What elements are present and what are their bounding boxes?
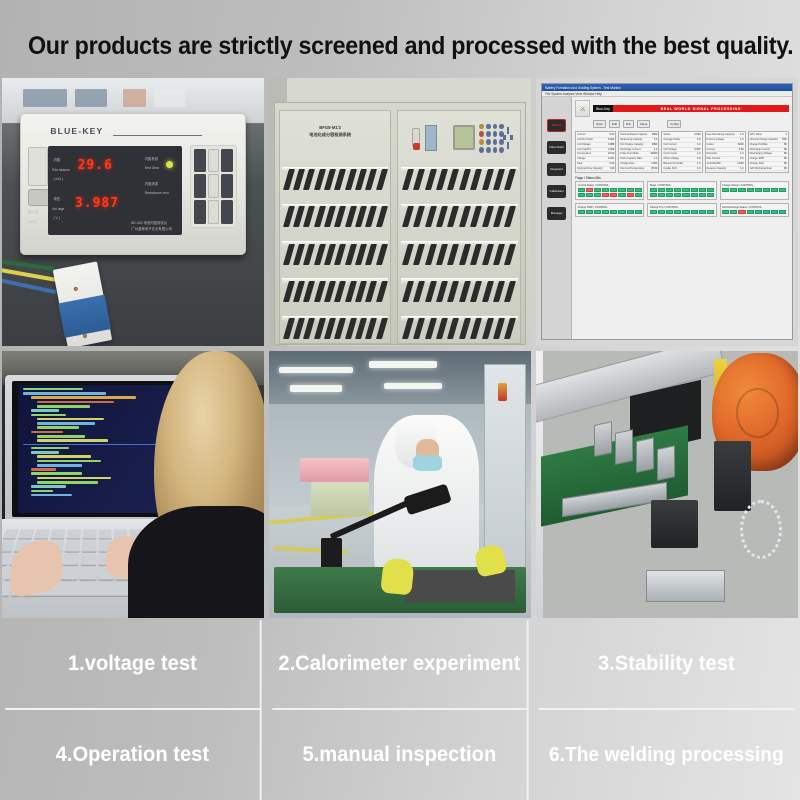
key[interactable] [82,529,96,538]
battery-clip [436,281,448,302]
background-object [23,89,68,108]
worker-face-mask [413,455,442,471]
key[interactable] [2,529,19,538]
voltage-unit: ( V ) [53,216,59,221]
flag-bit[interactable] [586,193,593,197]
window-titlebar: Battery Formation And Grading System - T… [542,84,792,91]
param-name: Usable SOC [663,167,677,171]
meter-brand-label: BLUE-KEY [50,126,103,136]
battery-clip [425,206,437,227]
keypad-key[interactable] [194,149,206,173]
flag-bit[interactable] [699,210,706,214]
battery-clip [482,244,494,265]
flag-bit[interactable] [779,188,786,192]
flag-bit[interactable] [755,188,762,192]
code-line [31,409,60,412]
battery-clip [334,169,346,190]
flag-bit[interactable] [771,210,778,214]
toolbar-button-open[interactable]: Open [593,120,606,128]
table-row: Usable SOC1.0 [663,167,700,172]
param-value: 4.00 [739,148,744,152]
battery-clip [459,169,471,190]
param-value: 2800 [652,143,658,147]
flag-bit[interactable] [602,210,609,214]
panel-button[interactable] [479,124,484,130]
key[interactable] [79,567,95,579]
fixture-block [615,429,633,465]
param-value: 24.00 [608,152,614,156]
window-body: Battery Data Flash Registers Calibration… [542,97,792,339]
sidebar-item-manager[interactable]: Manager [547,207,566,220]
keypad-key[interactable] [194,200,206,224]
flag-bit[interactable] [779,210,786,214]
cabinet-control-panel[interactable] [403,121,515,158]
software-header: ⚔ Blue-Key REAL WORLD SIGNAL PROCESSING [575,100,789,117]
panel-button[interactable] [486,147,491,153]
panel-button[interactable] [493,131,498,137]
key[interactable] [61,567,78,579]
battery-protection-board [52,262,111,346]
dpad-left-icon[interactable] [503,135,506,140]
param-value: 80 [784,152,787,156]
flag-bit[interactable] [610,210,617,214]
param-name: Present Voltage [707,138,725,142]
flag-bit[interactable] [682,193,689,197]
sidebar-item-battery[interactable]: Battery [547,119,566,132]
flag-bit[interactable] [738,210,745,214]
flag-bit[interactable] [650,193,657,197]
param-value: 1.0 [740,138,743,142]
cabinet-dpad[interactable] [503,127,513,149]
param-name: Current [577,133,585,137]
photo-stability-test: Battery Formation And Grading System - T… [536,78,798,346]
param-value: 0.0 [697,157,700,161]
param-value: 2.000 [608,148,614,152]
flag-bit[interactable] [682,188,689,192]
caption-5: 5.manual inspection [272,710,528,800]
flag-bit[interactable] [730,210,737,214]
param-value: 2800 [652,133,658,137]
key[interactable] [50,529,65,538]
flag-bit[interactable] [578,193,585,197]
flag-bit[interactable] [650,188,657,192]
param-name: Reserve Capacity [707,167,727,171]
flag-bit[interactable] [674,188,681,192]
flag-bit[interactable] [586,188,593,192]
battery-clip [447,169,459,190]
keypad-key[interactable] [221,149,233,173]
param-value: 1.0 [740,152,743,156]
ceiling-light [279,367,352,374]
battery-clip [504,206,516,227]
flag-bit[interactable] [747,188,754,192]
panel-button[interactable] [479,131,484,137]
panel-button[interactable] [493,124,498,130]
flag-bit[interactable] [594,210,601,214]
sidebar-item-label: Data Flash [549,146,564,149]
panel-meter-strip [425,125,437,151]
param-name: Nominals [707,152,717,156]
input-label-en: INPUT [28,220,38,225]
sidebar-item-label: Battery [552,124,562,127]
cabinet-door-left[interactable]: BFG8-M1'2 电池化成分容检测系统 [279,110,391,344]
panel-button[interactable] [486,124,491,130]
flag-bit[interactable] [674,193,681,197]
param-value: 4.000 [608,138,614,142]
flag-bit[interactable] [578,188,585,192]
battery-clip [493,206,505,227]
flag-bit[interactable] [747,210,754,214]
code-line [37,464,82,467]
sidebar-item-calibration[interactable]: Calibration [547,185,566,198]
battery-clip [402,244,414,265]
battery-clip [376,244,388,265]
battery-clip [376,206,388,227]
code-line [37,481,98,484]
flag-bit[interactable] [666,188,673,192]
flag-bit[interactable] [602,193,609,197]
flag-bit[interactable] [674,210,681,214]
flag-groups-grid: Control Status / CONTROL Flags / CONTROL [575,181,789,217]
param-name: Average Power [663,138,680,142]
key[interactable] [63,553,79,564]
keypad-key-right[interactable] [221,174,233,198]
battery-clip [334,244,346,265]
toolbar-button-run[interactable]: Run [623,120,634,128]
resistance-label-cn: 内阻 [53,158,60,163]
battery-clip [436,169,448,190]
flag-bit[interactable] [658,210,665,214]
battery-clip [470,169,482,190]
header-tagline: Blue-Key REAL WORLD SIGNAL PROCESSING [593,105,789,112]
code-line [31,494,73,497]
flag-bit[interactable] [627,193,634,197]
cabinet-clip-row [402,318,516,339]
test-software-window: Battery Formation And Grading System - T… [541,83,793,340]
flag-bit-row [578,193,642,197]
caption-6: 6.The welding processing [539,710,795,800]
battery-clip [413,244,425,265]
panel-button[interactable] [479,139,484,145]
cabinet-door-right[interactable] [397,110,521,344]
param-name: Discharge Current [620,148,640,152]
code-line [37,401,114,404]
flag-bit[interactable] [635,210,642,214]
flag-bit[interactable] [627,188,634,192]
param-value: 80 [784,167,787,171]
battery-clip [493,244,505,265]
param-value: 1.0 [697,162,700,166]
panel-button[interactable] [486,131,491,137]
cabinet-model-label: BFG8-M1'2 电池化成分容检测系统 [300,125,361,138]
key[interactable] [2,541,15,551]
keypad-key-down[interactable] [208,200,220,224]
param-value: 3.988 [608,143,614,147]
battery-clip [504,169,516,190]
flag-bit[interactable] [666,193,673,197]
caption-3: 3.Stability test [539,620,795,710]
battery-clip [425,169,437,190]
code-line [37,455,92,458]
ceiling-light [290,385,342,392]
panel-button[interactable] [486,139,491,145]
flags-section-title: Flags / Status Bits [575,176,789,180]
battery-clip [493,318,505,339]
battery-clip [447,318,459,339]
battery-clip [283,169,295,190]
battery-clip [402,318,414,339]
code-line [31,490,53,493]
battery-clip [283,281,295,302]
key[interactable] [81,541,96,551]
battery-clip [413,169,425,190]
flag-bit[interactable] [691,193,698,197]
cabinet-button-grid[interactable] [479,124,504,154]
key[interactable] [66,529,81,538]
battery-clip [365,206,377,227]
param-name: SOC Value [750,133,762,137]
flag-bit-row [578,210,642,214]
code-line [37,460,101,463]
param-value: 40000 [650,152,657,156]
battery-clip [283,318,295,339]
flag-bit[interactable] [610,193,617,197]
flag-bit[interactable] [586,210,593,214]
panel-button[interactable] [493,147,498,153]
flag-bit[interactable] [635,188,642,192]
code-line [31,468,57,471]
param-name: Nominal Temperature [620,167,644,171]
flag-bit[interactable] [658,193,665,197]
toolbar-button-setup[interactable]: Setup [637,120,650,128]
background-object [154,89,185,108]
flag-bit[interactable] [691,188,698,192]
flag-bit-row [650,193,714,197]
flag-bit[interactable] [691,210,698,214]
header-banner: REAL WORLD SIGNAL PROCESSING [613,105,789,112]
param-value: 1.0 [740,167,743,171]
param-value: 4.002 [694,148,700,152]
flag-bit[interactable] [763,188,770,192]
flag-bit[interactable] [666,210,673,214]
page-title: Our products are strictly screened and p… [28,24,772,68]
flag-bit[interactable] [627,210,634,214]
resistance-label-en: Res istance [52,168,70,173]
voltage-label-en: Vol tage [52,207,64,212]
fixture-block [636,437,654,473]
flag-bit[interactable] [635,193,642,197]
flag-bit[interactable] [699,188,706,192]
caption-grid: 1.voltage test 2.Calorimeter experiment … [0,620,800,800]
flag-bit[interactable] [699,193,706,197]
caption-1: 1.voltage test [5,620,261,710]
battery-clip [365,318,377,339]
param-name: Temperature [577,152,591,156]
param-name: Charge Pct/Max [750,143,768,147]
battery-clip [334,281,346,302]
person-shoulder [128,506,264,618]
param-name: Free Remaining Capacity [707,133,735,137]
flag-bit[interactable] [771,188,778,192]
flag-group: Charge SWP / CONTROL [575,203,644,217]
param-value: 80 [784,157,787,161]
param-value: 2.0 [740,157,743,161]
flag-bit[interactable] [594,188,601,192]
dpad-up-icon[interactable] [507,127,509,133]
flag-bit[interactable] [610,188,617,192]
sidebar-item-label: Manager [551,212,563,215]
software-toolbar[interactable]: Open Edit Run Setup Config [593,119,789,129]
key[interactable] [98,529,112,538]
flag-bit[interactable] [618,188,625,192]
input-label-cn: 输入端 [28,210,38,215]
battery-clip [402,281,414,302]
parameter-table: Nominal Rated Capacity2800 Measuring Cap… [618,131,659,173]
flag-bit[interactable] [738,188,745,192]
battery-clip [314,244,326,265]
flag-bit[interactable] [763,210,770,214]
panel-button[interactable] [493,139,498,145]
green-parts-cart [311,482,369,517]
caption-4: 4.Operation test [5,710,261,800]
cabinet-clip-row [283,318,387,339]
code-line [23,392,106,395]
key[interactable] [34,529,50,538]
flag-group: Flags / CONTROL [647,181,716,200]
param-name: Discharging Voltage [750,152,772,156]
battery-clip [459,318,471,339]
param-value: 4.000 [737,162,743,166]
key[interactable] [18,529,34,538]
sidebar-item-label: Calibration [550,190,564,193]
voltage-meter-device: BLUE-KEY 输入端 INPUT 内阻 Res istance ( mΩ )… [20,113,245,255]
sidebar-item-registers[interactable]: Registers [547,163,566,176]
battery-clip [470,206,482,227]
code-line [37,477,111,480]
table-row: Nominal Temperature25.00 [620,167,657,172]
param-value: 0.0 [697,138,700,142]
keypad-key-up[interactable] [208,149,220,173]
code-line [37,435,85,438]
emergency-stop-button[interactable] [413,143,420,150]
worker-glove-left [380,558,415,596]
brand-underline [113,135,202,136]
flag-bit[interactable] [618,193,625,197]
flag-bit[interactable] [594,193,601,197]
software-content: ⚔ Blue-Key REAL WORLD SIGNAL PROCESSING … [572,97,792,339]
flag-bit[interactable] [602,188,609,192]
battery-clip [413,281,425,302]
param-name: Nominal Free Capacity [577,167,602,171]
res-zero-label-cn: 内阻清零 [145,182,159,187]
param-value: 4.000 [694,133,700,137]
battery-clip [447,281,459,302]
content-spacer [575,217,789,336]
keypad-key-left[interactable] [194,174,206,198]
key[interactable] [64,541,79,551]
code-line [31,447,69,450]
table-row: Reserve Capacity1.0 [707,167,744,172]
flag-bit[interactable] [658,188,665,192]
actuator-block [651,500,698,548]
flag-bit[interactable] [755,210,762,214]
param-name: Self Discharge Rate [750,167,772,171]
keypad-key-center[interactable] [208,174,220,198]
sidebar-item-data-flash[interactable]: Data Flash [547,141,566,154]
motor-ring-detail [736,388,779,437]
parameter-table: Current0.00 Cell No./Order4.000 Cell Vol… [575,131,616,173]
param-value: 80 [784,143,787,147]
param-value: 800 [783,138,787,142]
battery-clip [482,318,494,339]
battery-clip [470,244,482,265]
param-value: 80 [784,162,787,166]
battery-clip [376,169,388,190]
battery-clip [447,244,459,265]
flag-bit-row [650,210,714,214]
battery-clip [482,206,494,227]
keypad-key[interactable] [221,200,233,224]
cabinet-clip-row [402,169,516,190]
table-row: Self Discharge Rate80 [750,167,787,172]
flag-bit[interactable] [707,193,714,197]
toolbar-button-edit[interactable]: Edit [609,120,620,128]
software-sidebar: Battery Data Flash Registers Calibration… [542,97,572,339]
photo-calorimeter-experiment: BFG8-M1'2 电池化成分容检测系统 [269,78,531,346]
meter-maker-text: 广州蓝奇电子实业有限公司 [131,227,172,232]
ceiling-light [384,383,442,390]
code-selection-line [23,444,161,446]
flag-bit[interactable] [707,210,714,214]
brand-tag: Blue-Key [593,105,613,112]
flag-bit[interactable] [650,210,657,214]
status-indicator-lamp [166,161,173,168]
flag-bit[interactable] [618,210,625,214]
board-blue-section [58,295,111,339]
code-line [31,451,60,454]
param-name: Cell Cap/Pct [577,148,591,152]
battery-clip [425,281,437,302]
flag-bit[interactable] [682,210,689,214]
flag-bit[interactable] [707,188,714,192]
flag-bit[interactable] [730,188,737,192]
meter-keypad[interactable] [190,145,237,229]
dpad-right-icon[interactable] [510,135,513,140]
battery-clip [425,318,437,339]
flag-bit[interactable] [578,210,585,214]
flag-bit[interactable] [722,210,729,214]
battery-clip [504,244,516,265]
battery-clip [470,318,482,339]
param-name: Max Current [707,157,721,161]
meter-model-text: BK-300 电池内阻测试仪 [131,221,167,226]
cabinet-clip-row [283,169,387,190]
param-value: 4.000 [651,162,657,166]
battery-formation-cabinet: BFG8-M1'2 电池化成分容检测系统 [274,102,526,345]
cabinet-clip-row [283,244,387,265]
key[interactable] [80,553,95,564]
dpad-down-icon[interactable] [507,142,509,148]
param-name: Nominal Charge Capacity [750,138,779,142]
toolbar-button-config[interactable]: Config [667,120,681,128]
flag-bit[interactable] [722,188,729,192]
battery-clip [365,244,377,265]
parameter-tables-row: Current0.00 Cell No./Order4.000 Cell Vol… [575,131,789,173]
code-line [37,422,95,425]
panel-button[interactable] [479,147,484,153]
photo-welding-processing [536,351,798,619]
component-tray [405,570,515,602]
